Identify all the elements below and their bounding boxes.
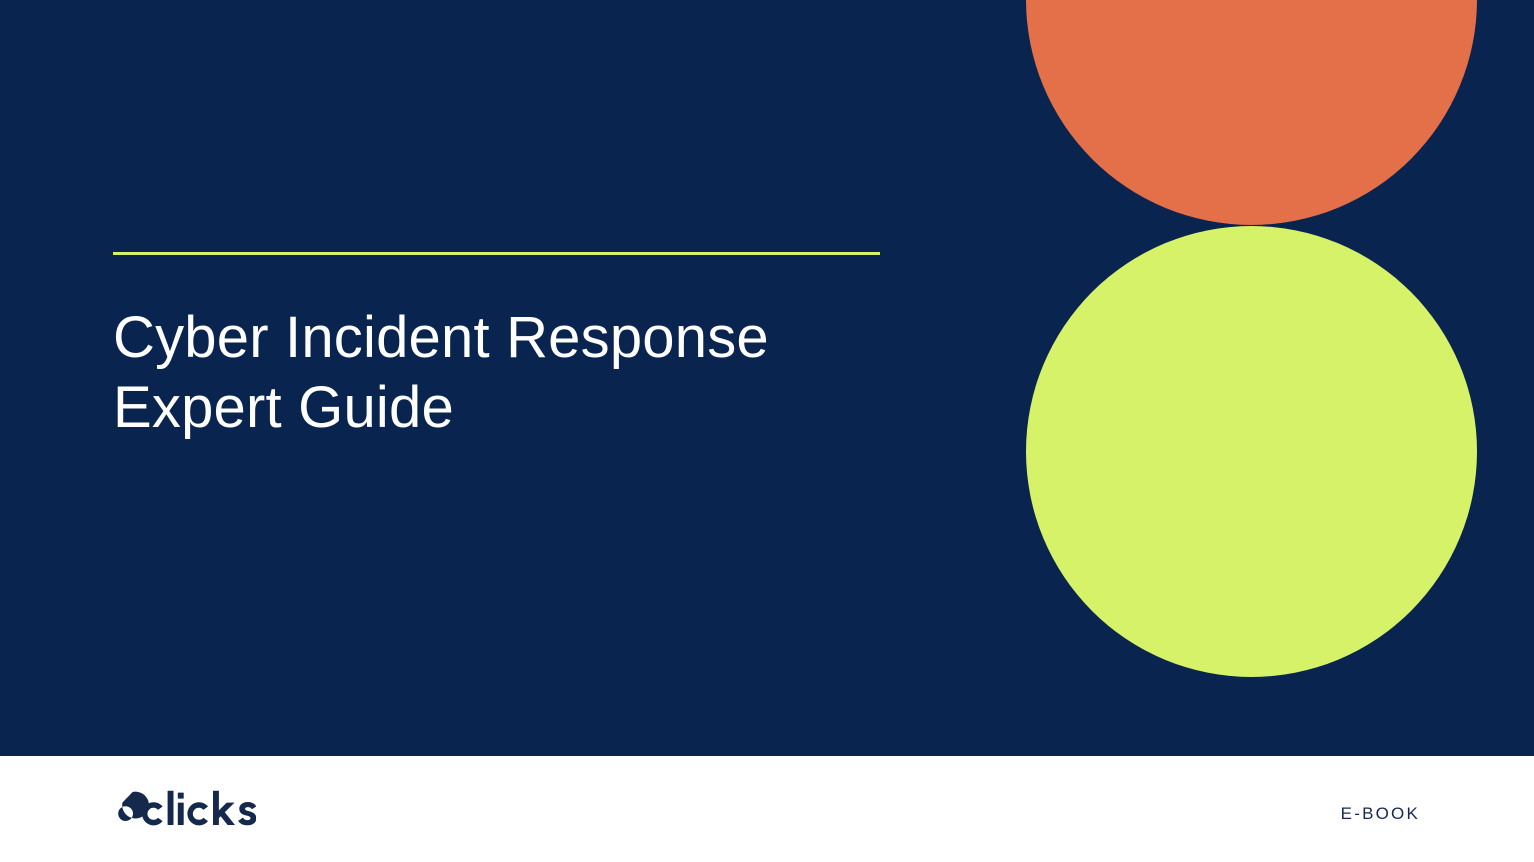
ebook-cover-page: Cyber Incident Response Expert Guide E-B… <box>0 0 1534 862</box>
title-block: Cyber Incident Response Expert Guide <box>113 252 933 443</box>
hero-panel: Cyber Incident Response Expert Guide <box>0 0 1534 756</box>
lime-circle-decoration <box>1026 226 1477 677</box>
document-type-label: E-BOOK <box>1341 802 1420 826</box>
page-title: Cyber Incident Response Expert Guide <box>113 303 933 443</box>
sixclicks-logo[interactable] <box>110 788 256 834</box>
orange-circle-decoration <box>1026 0 1477 225</box>
accent-rule-divider <box>113 252 880 255</box>
